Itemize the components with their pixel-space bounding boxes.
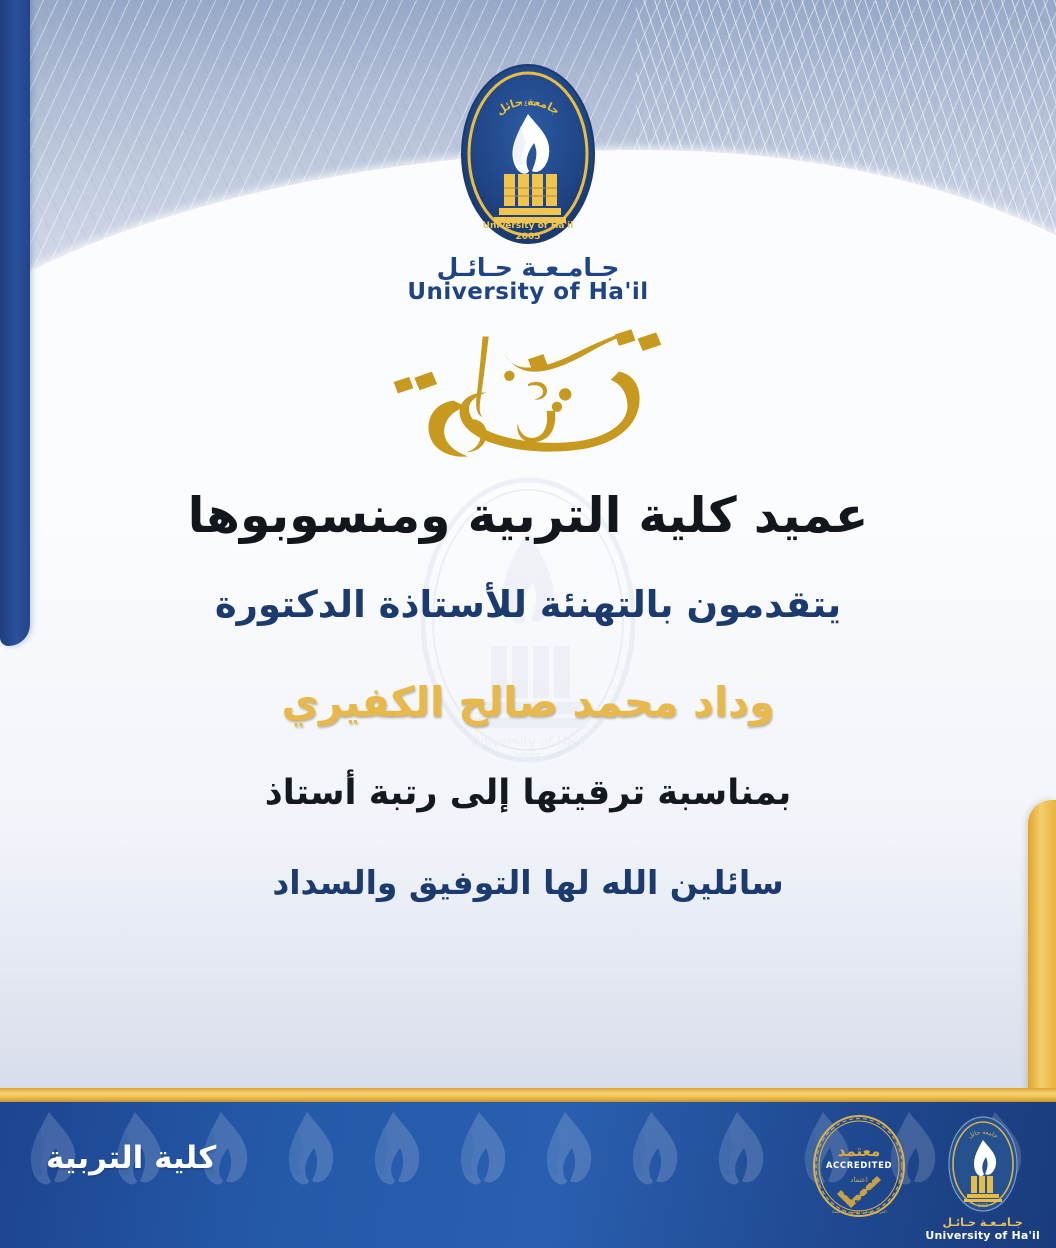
university-crest-icon: جامعة حائل ١٤٣١ University of Ha'il 2005 xyxy=(459,62,597,247)
footer-logo-name-arabic: جـامـعـة حـائـل xyxy=(942,1216,1022,1229)
svg-text:١٤٣١: ١٤٣١ xyxy=(519,99,536,108)
footer-logo-name-english: University of Ha'il xyxy=(925,1229,1040,1242)
announcement-body: عميد كلية التربية ومنسوبوها يتقدمون بالت… xyxy=(40,485,1016,903)
university-logo-block: جامعة حائل ١٤٣١ University of Ha'il 2005… xyxy=(0,62,1056,304)
footer-university-logo: جامعة حائل 2005 جـامـعـة حـائـل Universi… xyxy=(925,1114,1040,1242)
gold-divider-band xyxy=(0,1088,1056,1102)
svg-text:2005: 2005 xyxy=(515,232,540,242)
announcement-line-occasion: بمناسبة ترقيتها إلى رتبة أستاذ xyxy=(40,772,1016,816)
footer-marks: معتمد ACCREDITED اعتماد المركز الوطني لل… xyxy=(811,1114,1040,1242)
right-gold-accent-bar xyxy=(1028,800,1056,1092)
svg-text:2005: 2005 xyxy=(978,1203,989,1208)
footer-college-name: كلية التربية xyxy=(46,1140,216,1176)
svg-text:ACCREDITED: ACCREDITED xyxy=(826,1161,892,1171)
announcement-line-intro: يتقدمون بالتهنئة للأستاذة الدكتورة xyxy=(40,582,1016,628)
university-name-arabic: جـامـعـة حـائـل xyxy=(0,255,1056,280)
university-crest-icon: جامعة حائل 2005 xyxy=(946,1114,1020,1214)
svg-text:اعتماد: اعتماد xyxy=(851,1176,869,1184)
announcement-line-sender: عميد كلية التربية ومنسوبوها xyxy=(40,485,1016,546)
svg-text:University of Ha'il: University of Ha'il xyxy=(483,221,574,231)
congratulations-calligraphy xyxy=(0,320,1056,480)
svg-text:المركز الوطني للتقويم والاعتما: المركز الوطني للتقويم والاعتماد xyxy=(832,1209,887,1214)
svg-text:معتمد: معتمد xyxy=(838,1142,881,1160)
university-name-english: University of Ha'il xyxy=(0,281,1056,304)
footer-bar: كلية التربية معتمد ACCREDITED اعتماد xyxy=(0,1102,1056,1248)
announcement-honoree-name: وداد محمد صالح الكفيري xyxy=(40,677,1016,728)
announcement-line-prayer: سائلين الله لها التوفيق والسداد xyxy=(40,862,1016,903)
poster-canvas: University of Ha'il 2005 جامعة حائل ١٤٣١ xyxy=(0,0,1056,1248)
accreditation-seal-icon: معتمد ACCREDITED اعتماد المركز الوطني لل… xyxy=(811,1114,907,1218)
